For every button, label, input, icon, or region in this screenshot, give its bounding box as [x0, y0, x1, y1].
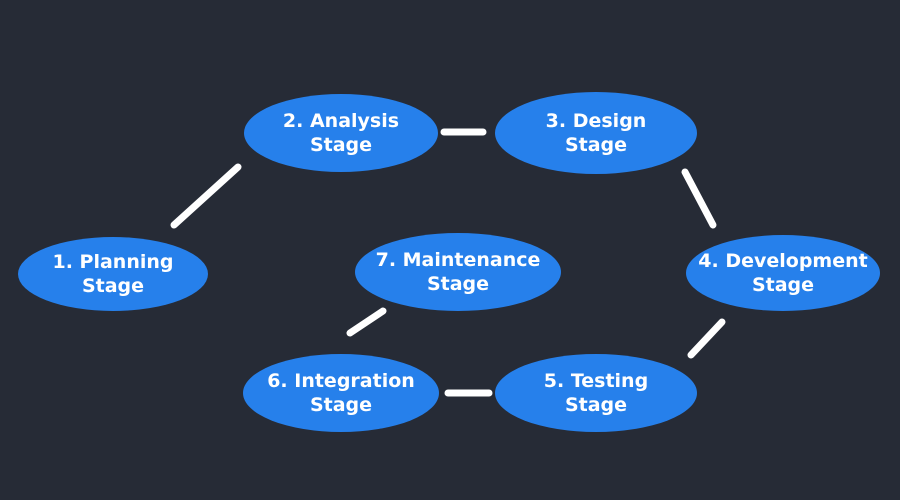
- connector-planning-to-analysis: [174, 167, 238, 225]
- node-testing[interactable]: 5. TestingStage: [495, 354, 697, 432]
- nodes-layer: 1. PlanningStage2. AnalysisStage3. Desig…: [18, 92, 880, 432]
- diagram-canvas: 1. PlanningStage2. AnalysisStage3. Desig…: [0, 0, 900, 500]
- node-label-line2-development: Stage: [752, 274, 814, 296]
- connector-integration-to-maintenance: [350, 311, 383, 333]
- node-label-line2-maintenance: Stage: [427, 273, 489, 295]
- node-design[interactable]: 3. DesignStage: [495, 92, 697, 174]
- node-label-line1-design: 3. Design: [546, 110, 647, 132]
- node-label-line2-testing: Stage: [565, 394, 627, 416]
- node-label-line1-analysis: 2. Analysis: [283, 110, 399, 132]
- node-label-line1-integration: 6. Integration: [267, 370, 415, 392]
- sdlc-cycle-diagram: 1. PlanningStage2. AnalysisStage3. Desig…: [0, 0, 900, 500]
- node-label-line2-integration: Stage: [310, 394, 372, 416]
- node-label-line1-development: 4. Development: [698, 250, 867, 272]
- node-planning[interactable]: 1. PlanningStage: [18, 237, 208, 311]
- connector-development-to-testing: [691, 322, 722, 355]
- node-integration[interactable]: 6. IntegrationStage: [243, 354, 439, 432]
- node-maintenance[interactable]: 7. MaintenanceStage: [355, 233, 561, 311]
- node-label-line2-design: Stage: [565, 134, 627, 156]
- node-label-line2-analysis: Stage: [310, 134, 372, 156]
- node-analysis[interactable]: 2. AnalysisStage: [244, 94, 438, 172]
- node-label-line1-planning: 1. Planning: [52, 251, 173, 273]
- node-development[interactable]: 4. DevelopmentStage: [686, 235, 880, 311]
- node-label-line2-planning: Stage: [82, 275, 144, 297]
- node-label-line1-testing: 5. Testing: [544, 370, 648, 392]
- connector-design-to-development: [685, 172, 713, 225]
- node-label-line1-maintenance: 7. Maintenance: [376, 249, 541, 271]
